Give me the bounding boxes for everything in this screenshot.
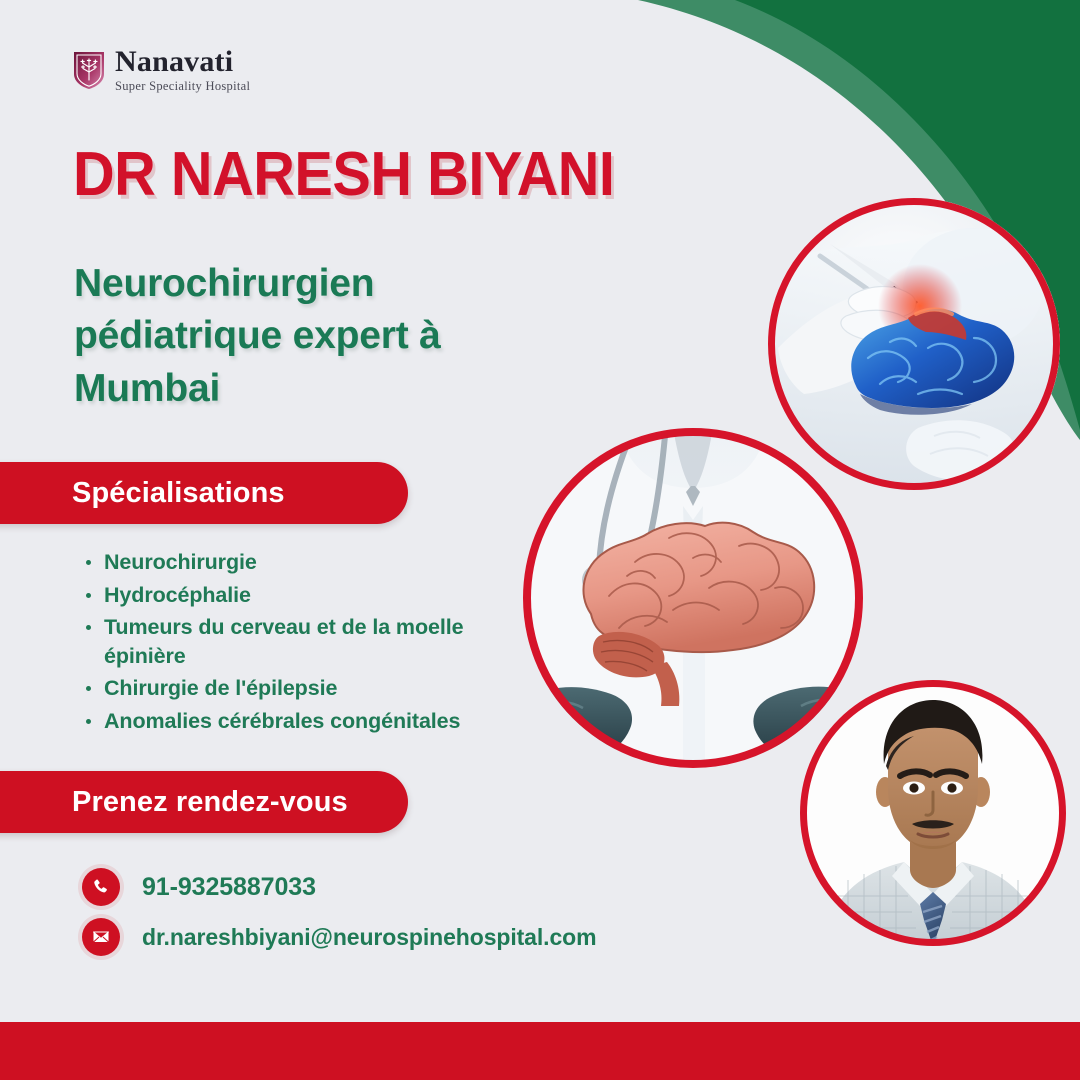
list-item: Chirurgie de l'épilepsie (78, 674, 498, 703)
appointment-banner[interactable]: Prenez rendez-vous (0, 771, 408, 833)
specialisations-banner-label: Spécialisations (72, 477, 285, 510)
brand-name: Nanavati (115, 47, 250, 77)
brand-logo: Nanavati Super Speciality Hospital (72, 47, 250, 93)
email-address: dr.nareshbiyani@neurospinehospital.com (142, 924, 596, 951)
list-item: Neurochirurgie (78, 548, 498, 577)
phone-icon (82, 868, 120, 906)
envelope-icon (82, 918, 120, 956)
footer-bar (0, 1022, 1080, 1080)
doctor-portrait-photo (800, 680, 1066, 946)
specialisations-banner: Spécialisations (0, 462, 408, 524)
list-item: Tumeurs du cerveau et de la moelle épini… (78, 613, 498, 670)
list-item: Anomalies cérébrales congénitales (78, 707, 498, 736)
poster-canvas: Nanavati Super Speciality Hospital DR NA… (0, 0, 1080, 1080)
phone-number: 91-9325887033 (142, 873, 316, 902)
brain-surgery-photo (768, 198, 1060, 490)
appointment-banner-label: Prenez rendez-vous (72, 786, 348, 819)
shield-crest-icon (72, 50, 106, 90)
page-subtitle: Neurochirurgien pédiatrique expert à Mum… (74, 258, 504, 415)
page-title: DR NARESH BIYANI (73, 144, 614, 206)
contact-email-row[interactable]: dr.nareshbiyani@neurospinehospital.com (82, 918, 596, 956)
list-item: Hydrocéphalie (78, 581, 498, 610)
specialisations-list: Neurochirurgie Hydrocéphalie Tumeurs du … (78, 548, 498, 740)
brand-tagline: Super Speciality Hospital (115, 80, 250, 93)
brain-in-hands-photo (523, 428, 863, 768)
contact-phone-row[interactable]: 91-9325887033 (82, 868, 316, 906)
